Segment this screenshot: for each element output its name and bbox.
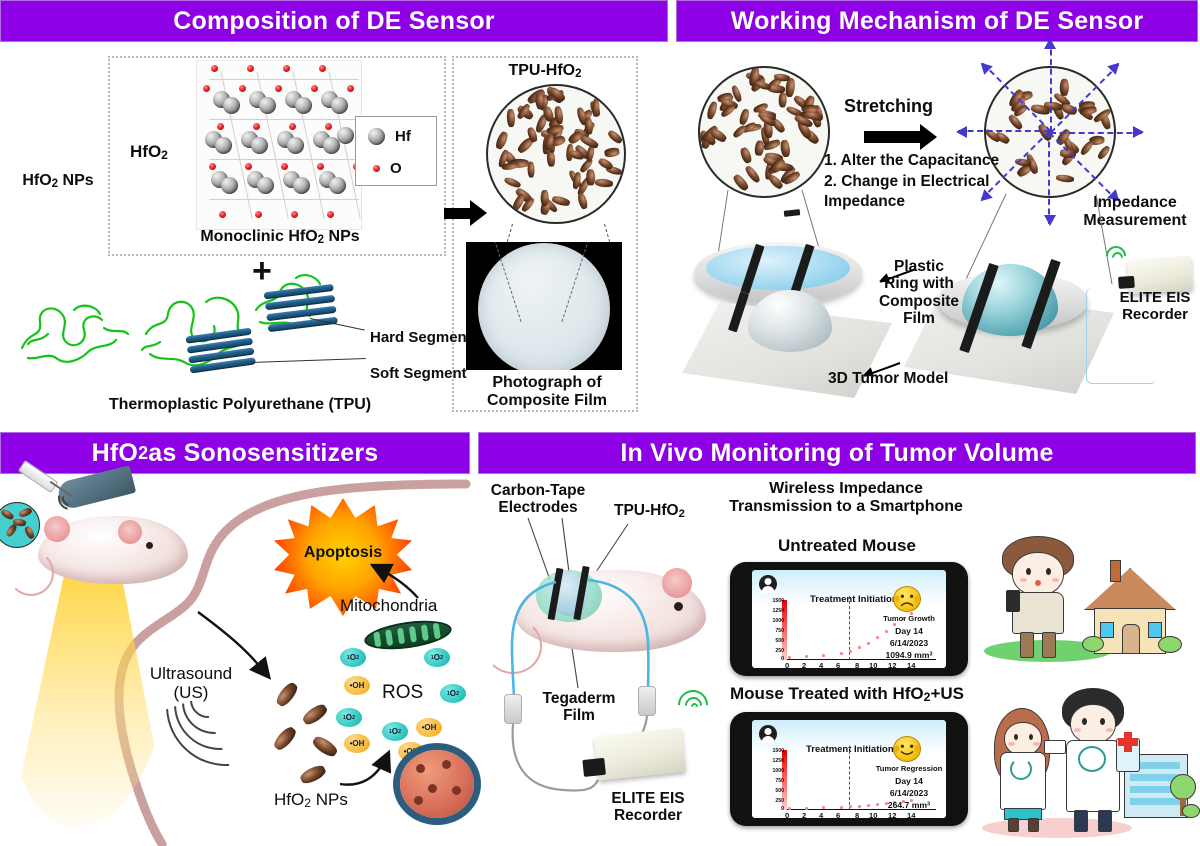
phone-screen-treated[interactable]: Treatment Initiation 1500 1250 1000 750 … bbox=[752, 720, 946, 818]
phone-untreated[interactable]: Treatment Initiation 1500 1250 1000 750 … bbox=[730, 562, 968, 676]
hfo2-nps-label-sono: HfO2 NPs bbox=[274, 790, 348, 811]
tumor-model-label: 3D Tumor Model bbox=[828, 370, 948, 387]
patient-at-home-illustration bbox=[976, 528, 1196, 672]
hard-segment-stack-2 bbox=[264, 284, 339, 336]
sad-face-emoji bbox=[893, 586, 921, 612]
mitochondria-label: Mitochondria bbox=[340, 596, 437, 615]
panel-title-sonosensitizers: HfO2 as Sonosensitizers bbox=[0, 432, 470, 474]
day-untreated: Day 14 bbox=[868, 626, 946, 636]
happy-face-emoji bbox=[893, 736, 921, 762]
impedance-measurement-label: ImpedanceMeasurement bbox=[1072, 194, 1198, 230]
status-untreated: Tumor Growth bbox=[870, 614, 946, 623]
hfo2-nanoparticle bbox=[1079, 139, 1094, 156]
monoclinic-caption: Monoclinic HfO2 NPs bbox=[140, 228, 420, 247]
arrow-to-composite bbox=[444, 200, 486, 226]
tpu-hfo2-title: TPU-HfO2 bbox=[462, 62, 628, 81]
apoptosis-label: Apoptosis bbox=[290, 544, 396, 562]
treated-mouse-label: Mouse Treated with HfO2+US bbox=[726, 684, 968, 705]
hfo2-nanoparticle bbox=[739, 146, 753, 164]
hfo2-nanoparticle bbox=[1007, 114, 1024, 132]
untreated-mouse-label: Untreated Mouse bbox=[742, 536, 952, 555]
hfo2-nanoparticle bbox=[495, 131, 510, 151]
photograph-caption: Photograph ofComposite Film bbox=[458, 374, 636, 410]
hfo2-nanoparticle bbox=[1096, 145, 1111, 161]
status-treated: Tumor Regression bbox=[866, 764, 946, 773]
hfo2-nanoparticle bbox=[784, 78, 795, 98]
panel-composition: Composition of DE Sensor HfO2 NPs HfO2 bbox=[0, 0, 672, 428]
wireless-transmission-label: Wireless ImpedanceTransmission to a Smar… bbox=[724, 480, 968, 516]
treatment-initiation-line-treated bbox=[849, 746, 850, 810]
hfo2-nanoparticle bbox=[1060, 79, 1069, 96]
stretching-arrow bbox=[864, 124, 942, 150]
elite-eis-recorder-device-invivo bbox=[594, 728, 686, 781]
ros-label: ROS bbox=[382, 682, 423, 703]
date-treated: 6/14/2023 bbox=[868, 788, 946, 798]
wifi-icon bbox=[1104, 244, 1134, 270]
hfo2-nps-label: HfO2 NPs bbox=[2, 172, 114, 191]
smartphone-icon bbox=[1006, 590, 1020, 612]
soft-segment-label: Soft Segment bbox=[370, 366, 467, 383]
plastic-ring-label: PlasticRing withCompositeFilm bbox=[874, 258, 964, 327]
date-untreated: 6/14/2023 bbox=[868, 638, 946, 648]
elite-eis-recorder-label: ELITE EISRecorder bbox=[1110, 290, 1200, 324]
hfo2-nanoparticle bbox=[705, 100, 718, 120]
hfo2-nanoparticle bbox=[503, 176, 521, 189]
ros-o2-2: 1O2 bbox=[336, 708, 362, 727]
hard-segment-label: Hard Segment bbox=[370, 330, 472, 347]
composite-circle-relaxed bbox=[698, 66, 830, 198]
ros-o2-3: 1O2 bbox=[382, 722, 408, 741]
volume-untreated: 1094.9 mm3 bbox=[864, 650, 946, 660]
hf-atom-icon bbox=[368, 128, 385, 145]
hfo2-nanoparticle bbox=[755, 140, 765, 156]
nanoparticle-patch-icon bbox=[0, 502, 40, 548]
hfo2-nanoparticle bbox=[595, 178, 614, 188]
graphical-abstract-figure: Composition of DE Sensor HfO2 NPs HfO2 bbox=[0, 0, 1200, 846]
o-atom-icon bbox=[373, 165, 380, 172]
soft-segment-coil-icon bbox=[18, 290, 138, 372]
hfo2-nanoparticle bbox=[604, 146, 621, 157]
hfo2-formula-label: HfO2 bbox=[130, 142, 168, 163]
monoclinic-crystal-lattice bbox=[196, 60, 362, 230]
ros-o2-4: 1O2 bbox=[424, 648, 450, 667]
volume-treated: 264.7 mm3 bbox=[866, 800, 946, 810]
day-treated: Day 14 bbox=[868, 776, 946, 786]
hfo2-nanoparticle bbox=[541, 190, 549, 206]
hfo2-nanoparticle bbox=[606, 129, 624, 146]
hfo2-nanoparticle bbox=[802, 105, 819, 113]
ros-oh-4: •OH bbox=[416, 718, 442, 737]
ros-oh-2: •OH bbox=[344, 734, 370, 753]
wifi-icon-invivo bbox=[676, 688, 718, 726]
hfo2-nanoparticle bbox=[576, 192, 588, 209]
hfo2-nanoparticle bbox=[1055, 174, 1073, 183]
stretching-label: Stretching bbox=[844, 96, 933, 116]
cancer-cell-icon bbox=[400, 750, 474, 818]
avatar-2[interactable] bbox=[759, 725, 777, 743]
panel-title-mechanism: Working Mechanism of DE Sensor bbox=[676, 0, 1198, 42]
composite-film-photograph bbox=[466, 242, 622, 370]
doctors-at-hospital-illustration bbox=[974, 682, 1200, 842]
effect-1-label: 1. Alter the Capacitance bbox=[824, 152, 999, 169]
leadline-soft bbox=[252, 358, 366, 363]
tpu-hfo2-composite-circle bbox=[486, 84, 626, 224]
phone-treated[interactable]: Treatment Initiation 1500 1250 1000 750 … bbox=[730, 712, 968, 826]
panel-invivo: In Vivo Monitoring of Tumor Volume Carbo… bbox=[478, 432, 1200, 846]
ros-o2-5: 1O2 bbox=[440, 684, 466, 703]
hfo2-nanoparticle bbox=[731, 173, 749, 192]
ros-o2-1: 1O2 bbox=[340, 648, 366, 667]
tpu-caption: Thermoplastic Polyurethane (TPU) bbox=[60, 396, 420, 414]
effect-2b-label: Impedance bbox=[824, 193, 905, 210]
panel-title-composition: Composition of DE Sensor bbox=[0, 0, 668, 42]
phone-screen-untreated[interactable]: Treatment Initiation 1500 1250 1000 750 … bbox=[752, 570, 946, 668]
legend-box: Hf O bbox=[355, 116, 437, 186]
legend-label-hf: Hf bbox=[395, 128, 411, 145]
hfo2-nanoparticle bbox=[780, 140, 791, 158]
avatar[interactable] bbox=[759, 575, 777, 593]
panel-mechanism: Working Mechanism of DE Sensor Stretchin… bbox=[676, 0, 1200, 428]
hfo2-nanoparticle bbox=[507, 108, 516, 126]
hfo2-nanoparticle bbox=[744, 164, 762, 184]
chart-title-untreated: Treatment Initiation bbox=[810, 594, 898, 605]
panel-sonosensitizers: HfO2 as Sonosensitizers bbox=[0, 432, 474, 846]
hfo2-nanoparticle bbox=[554, 105, 564, 124]
legend-label-o: O bbox=[390, 160, 402, 177]
device-in-hand bbox=[1044, 740, 1066, 754]
ros-oh-1: •OH bbox=[344, 676, 370, 695]
effect-2-label: 2. Change in Electrical bbox=[824, 173, 989, 190]
